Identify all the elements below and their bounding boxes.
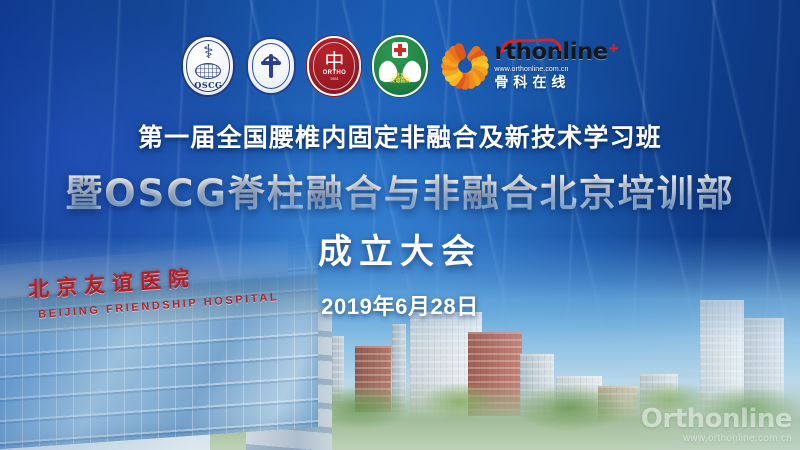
orthonline-logo: rthonline + www.orthonline.com.cn 骨科在线 <box>439 35 618 97</box>
caduceus-icon: ⚕ <box>203 43 213 62</box>
title-line-2: 暨OSCG脊柱融合与非融合北京培训部 <box>0 163 800 217</box>
logo-strip: ⚕ OSCG 中 ORTHO 1981 <box>0 33 800 99</box>
beijing-friendship-hospital-logo: 北京 友谊医院 <box>372 35 428 97</box>
capital-medical-university-logo <box>246 37 296 95</box>
oscg-logo-abbr: OSCG <box>194 80 222 90</box>
title-block: 第一届全国腰椎内固定非融合及新技术学习班 暨OSCG脊柱融合与非融合北京培训部 … <box>0 118 800 321</box>
event-date: 2019年6月28日 <box>0 289 800 321</box>
swoosh-icon <box>500 37 562 52</box>
hospital-logo-line2: 友谊医院 <box>378 79 422 85</box>
orthonline-url: www.orthonline.com.cn <box>494 66 618 73</box>
red-cross-icon <box>392 42 408 58</box>
medical-cross-icon <box>261 54 281 78</box>
ortho-red-logo: 中 ORTHO 1981 <box>307 36 361 96</box>
dove-icon: 北京 友谊医院 <box>378 59 422 83</box>
globe-icon <box>195 63 221 79</box>
title-line-3: 成立大会 <box>0 224 800 273</box>
ortho-calligraphy-icon: 中 <box>324 52 344 70</box>
poster-canvas: 北京友谊医院 BEIJING FRIENDSHIP HOSPITAL ⚕ OSC… <box>0 0 800 450</box>
sunflower-icon <box>439 40 491 92</box>
title-line-1: 第一届全国腰椎内固定非融合及新技术学习班 <box>0 118 800 154</box>
orthonline-chinese-name: 骨科在线 <box>494 76 618 90</box>
oscg-logo: ⚕ OSCG <box>181 35 235 97</box>
plus-icon: + <box>609 41 619 56</box>
ortho-logo-year: 1981 <box>330 76 339 81</box>
